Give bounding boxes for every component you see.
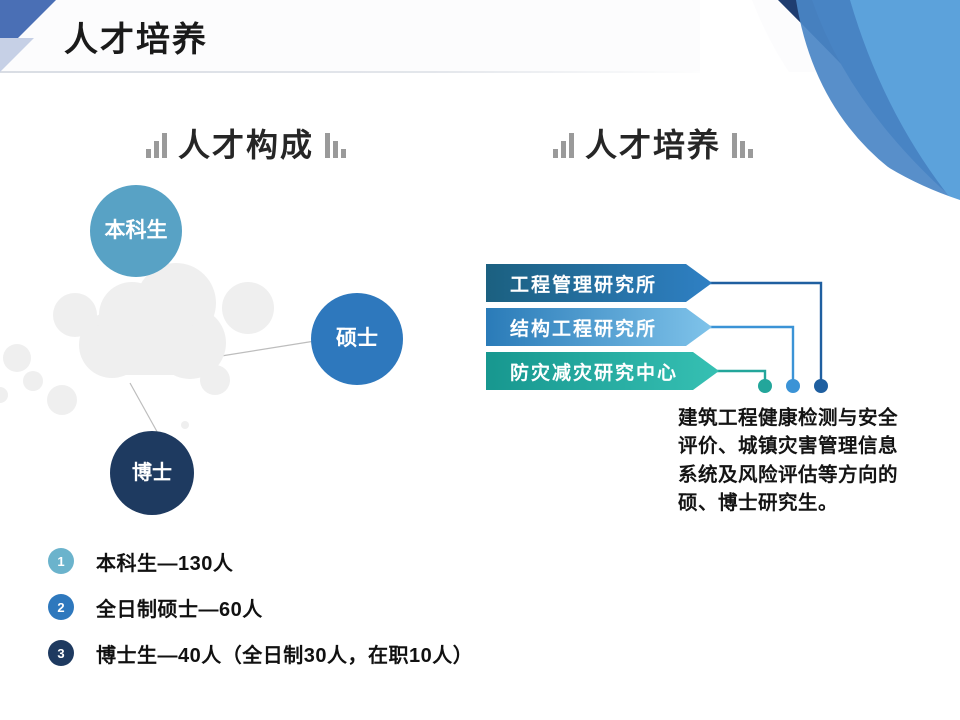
corner-triangle-light-icon [0, 38, 34, 72]
connector-line-1 [708, 283, 821, 384]
list-item[interactable]: 2 全日制硕士—60人 [48, 586, 668, 628]
legend-badge-1: 1 [48, 548, 74, 574]
node-bachelor[interactable]: 本科生 [90, 185, 182, 277]
section-heading-label: 人才构成 [178, 128, 314, 162]
banner-label-2: 结构工程研究所 [486, 314, 657, 341]
node-master-label: 硕士 [336, 327, 378, 351]
legend-label-1: 本科生—130人 [96, 547, 233, 576]
header-divider [0, 71, 720, 73]
node-bachelor-label: 本科生 [105, 219, 168, 243]
legend-badge-number: 2 [57, 600, 64, 615]
connector-dot-1 [814, 379, 828, 393]
legend-badge-number: 1 [57, 554, 64, 569]
legend-label-2: 全日制硕士—60人 [96, 593, 263, 622]
bar-chart-left-icon [553, 132, 574, 162]
legend-badge-3: 3 [48, 640, 74, 666]
bar-chart-right-icon [732, 132, 753, 162]
talent-structure-diagram: 本科生 硕士 博士 [0, 175, 470, 530]
banner-disaster-prevention-center[interactable]: 防灾减灾研究中心 [486, 352, 678, 390]
banner-label-3: 防灾减灾研究中心 [486, 358, 678, 385]
node-doctor[interactable]: 博士 [110, 431, 194, 515]
banner-structural-engineering-institute[interactable]: 结构工程研究所 [486, 308, 657, 346]
legend-badge-number: 3 [57, 646, 64, 661]
training-description: 建筑工程健康检测与安全评价、城镇灾害管理信息系统及风险评估等方向的硕、博士研究生… [678, 404, 914, 518]
cloud-icon [79, 263, 226, 379]
connector-dot-3 [758, 379, 772, 393]
section-heading-talent-training: 人才培养 [553, 118, 753, 162]
slide-root: 人才培养 人才构成 人才培养 [0, 0, 960, 720]
node-master[interactable]: 硕士 [311, 293, 403, 385]
legend-label-3: 博士生—40人（全日制30人，在职10人） [96, 639, 473, 668]
bar-chart-right-icon [325, 132, 346, 162]
bar-chart-left-icon [146, 132, 167, 162]
connector-dot-2 [786, 379, 800, 393]
talent-training-flow: 工程管理研究所 结构工程研究所 [480, 260, 940, 410]
page-title: 人才培养 [64, 12, 208, 61]
legend-badge-2: 2 [48, 594, 74, 620]
banner-label-1: 工程管理研究所 [486, 270, 657, 297]
section-heading-talent-structure: 人才构成 [146, 118, 346, 162]
list-item[interactable]: 1 本科生—130人 [48, 540, 668, 582]
banner-engineering-management-institute[interactable]: 工程管理研究所 [486, 264, 657, 302]
legend-list: 1 本科生—130人 2 全日制硕士—60人 3 博士生—40人（全日制30人，… [48, 540, 668, 678]
node-doctor-label: 博士 [132, 462, 172, 485]
section-heading-label: 人才培养 [585, 128, 721, 162]
connector-line-2 [708, 327, 793, 384]
list-item[interactable]: 3 博士生—40人（全日制30人，在职10人） [48, 632, 668, 674]
